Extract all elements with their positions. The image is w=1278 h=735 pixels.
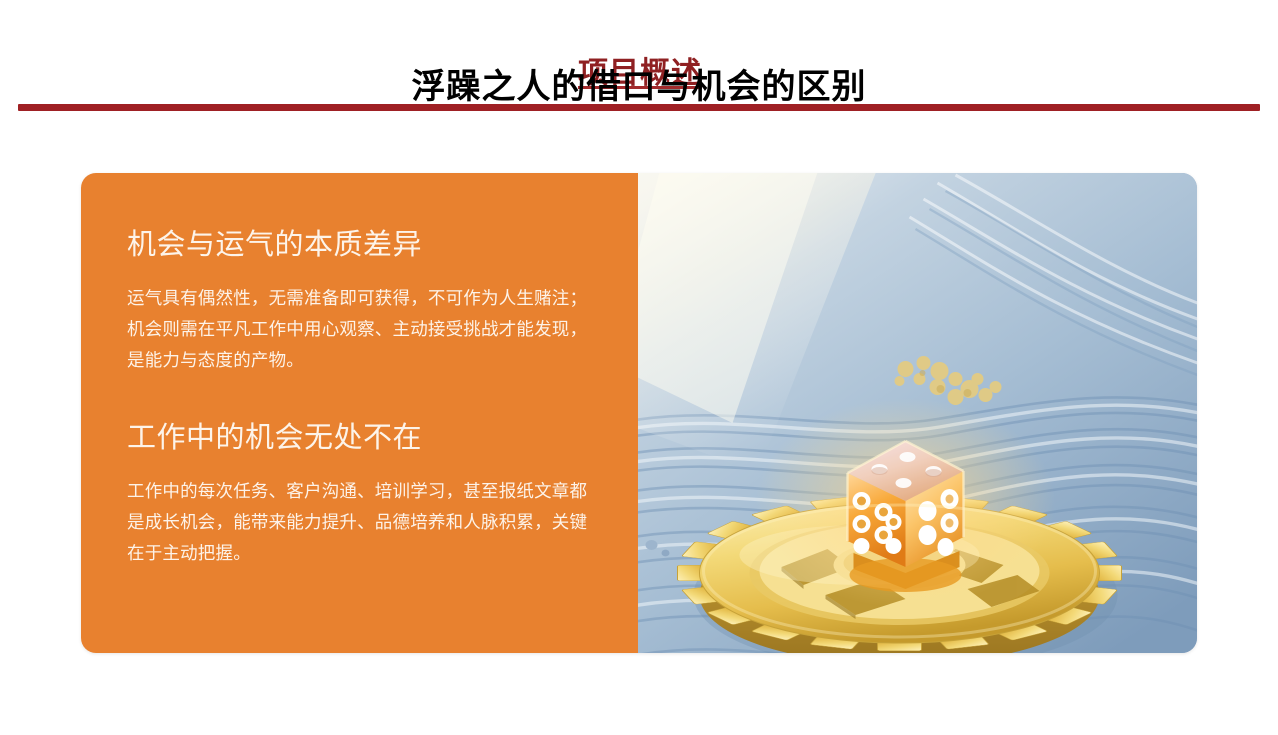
section-heading: 机会与运气的本质差异 [127, 225, 592, 265]
text-panel: 机会与运气的本质差异 运气具有偶然性，无需准备即可获得，不可作为人生赌注；机会则… [81, 173, 638, 653]
section-block: 工作中的机会无处不在 工作中的每次任务、客户沟通、培训学习，甚至报纸文章都是成长… [127, 418, 592, 569]
section-body: 工作中的每次任务、客户沟通、培训学习，甚至报纸文章都是成长机会，能带来能力提升、… [127, 476, 589, 569]
content-card: 机会与运气的本质差异 运气具有偶然性，无需准备即可获得，不可作为人生赌注；机会则… [81, 173, 1197, 653]
slide-header: 项目概述 浮躁之人的借口与机会的区别 [0, 0, 1278, 125]
page-title: 浮躁之人的借口与机会的区别 [0, 65, 1278, 109]
section-block: 机会与运气的本质差异 运气具有偶然性，无需准备即可获得，不可作为人生赌注；机会则… [127, 225, 592, 376]
golden-dice-on-gear-icon [638, 173, 1197, 653]
illustration-panel [638, 173, 1197, 653]
section-heading: 工作中的机会无处不在 [127, 418, 592, 458]
section-body: 运气具有偶然性，无需准备即可获得，不可作为人生赌注；机会则需在平凡工作中用心观察… [127, 283, 589, 376]
